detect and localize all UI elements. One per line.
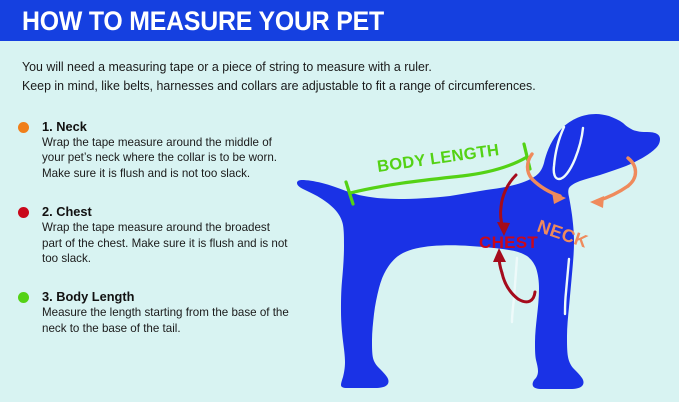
infographic-page: HOW TO MEASURE YOUR PET You will need a … <box>0 0 679 402</box>
intro-line-1: You will need a measuring tape or a piec… <box>22 58 652 77</box>
step-body-chest: Wrap the tape measure around the broades… <box>42 220 308 266</box>
list-item: 3. Body Length Measure the length starti… <box>18 288 308 336</box>
step-body-line: Measure the length starting from the bas… <box>42 305 308 320</box>
bullet-icon-chest <box>18 207 29 218</box>
step-body-line: part of the chest. Make sure it is flush… <box>42 236 308 251</box>
step-title-chest: 2. Chest <box>42 203 308 220</box>
step-body-body-length: Measure the length starting from the bas… <box>42 305 308 336</box>
label-chest: CHEST <box>479 233 538 252</box>
steps-list: 1. Neck Wrap the tape measure around the… <box>18 118 308 358</box>
step-title-neck: 1. Neck <box>42 118 308 135</box>
step-body-line: Wrap the tape measure around the broades… <box>42 220 308 235</box>
step-body-line: neck to the base of the tail. <box>42 321 308 336</box>
page-title: HOW TO MEASURE YOUR PET <box>22 6 384 36</box>
intro-text: You will need a measuring tape or a piec… <box>22 58 662 96</box>
step-body-line: Make sure it is flush and is not too sla… <box>42 166 308 181</box>
step-title-body-length: 3. Body Length <box>42 288 308 305</box>
intro-line-2: Keep in mind, like belts, harnesses and … <box>22 77 652 96</box>
step-body-line: Wrap the tape measure around the middle … <box>42 135 308 150</box>
dog-front-leg-line <box>512 258 517 322</box>
step-body-line: your pet’s neck where the collar is to b… <box>42 150 308 165</box>
dog-diagram: BODY LENGTH NECK <box>296 96 679 402</box>
step-body-neck: Wrap the tape measure around the middle … <box>42 135 308 181</box>
list-item: 2. Chest Wrap the tape measure around th… <box>18 203 308 266</box>
label-body-length: BODY LENGTH <box>376 141 500 176</box>
step-body-line: too slack. <box>42 251 308 266</box>
header-bar: HOW TO MEASURE YOUR PET <box>0 0 679 41</box>
bullet-icon-neck <box>18 122 29 133</box>
list-item: 1. Neck Wrap the tape measure around the… <box>18 118 308 181</box>
bullet-icon-body-length <box>18 292 29 303</box>
